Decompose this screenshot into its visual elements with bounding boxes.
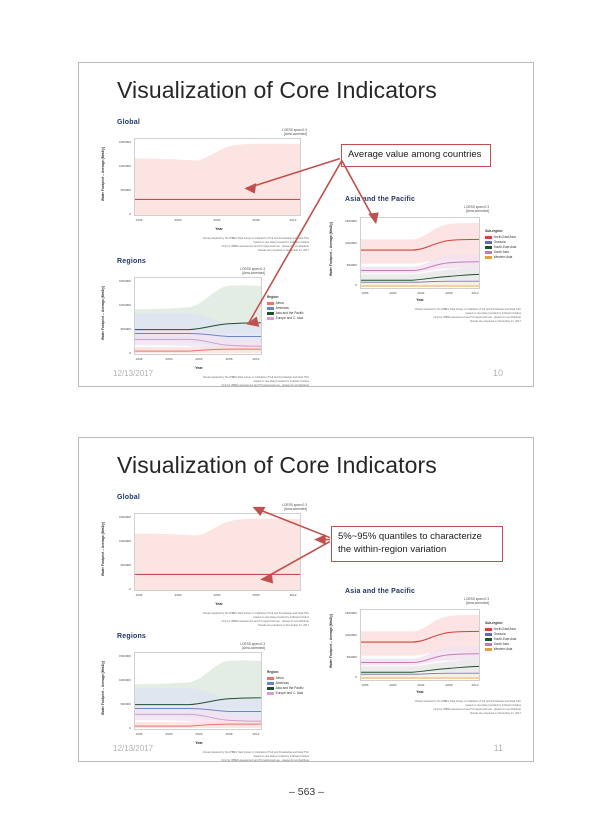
x-tick: 2012 [253,732,260,736]
legend-item[interactable]: Europe and C. Asia [267,316,304,321]
legend-swatch-asia-pacific [267,687,274,690]
x-tick: 1996 [362,683,369,687]
legend-title: Region: [267,670,304,675]
y-tick: 500000 [107,188,131,192]
legend-swatch-europe-c-asia [267,317,274,320]
y-axis-label: Water Footprint – Average (Mm3/y) [101,522,105,576]
x-tick: 2004 [214,593,221,597]
chart-regions: LOESS span=0.3 [Area-corrected] Water Fo… [99,267,309,363]
y-tick: 1500000 [107,515,131,519]
panel-global: Global LOESS span=0.3 [Area-corrected] W… [99,119,309,224]
x-axis-label: Year [416,298,424,302]
plot-area-regions [134,277,262,355]
y-tick: 1000000 [107,678,131,682]
legend-label: Western Asia [494,647,513,652]
x-axis-label: Year [195,366,203,370]
x-tick: 2000 [390,291,397,295]
x-tick: 2004 [418,291,425,295]
panel-title-asia: Asia and the Pacific [345,588,527,595]
plot-area-asia [360,217,480,289]
x-tick: 1996 [136,357,143,361]
y-tick: 1000000 [107,303,131,307]
x-tick: 2000 [175,218,182,222]
legend-swatch-oceania [485,241,492,244]
x-tick: 1996 [136,218,143,222]
y-tick: 1500000 [107,279,131,283]
panel-asia: Asia and the Pacific LOESS span=0.3 [Are… [327,588,527,687]
slide-date: 12/13/2017 [113,744,153,753]
y-tick: 1500000 [107,140,131,144]
y-tick: 500000 [335,263,357,267]
x-tick: 1996 [136,732,143,736]
y-axis-label: Water Footprint – Average (Mm3/y) [329,222,333,276]
y-tick: 0 [107,587,131,591]
y-tick: 1000000 [107,539,131,543]
x-tick: 1996 [136,593,143,597]
legend-swatch-europe-c-asia [267,692,274,695]
loess-note: LOESS span=0.3 [Area-corrected] [464,205,489,214]
slide-11: Visualization of Core Indicators Global … [78,437,534,762]
x-tick: 2012 [290,593,297,597]
x-axis-label: Year [195,741,203,745]
legend-swatch-north-east-asia [485,628,492,631]
legend-title: Sub-region: [485,229,516,234]
chart-asia: LOESS span=0.3 [Area-corrected] Water Fo… [327,205,527,295]
x-tick: 2008 [446,291,453,295]
x-tick: 2000 [166,357,173,361]
legend-title: Region: [267,295,304,300]
y-tick: 500000 [107,702,131,706]
y-tick: 0 [335,675,357,679]
y-axis-label: Water Footprint – Average (Mm3/y) [101,147,105,201]
legend-swatch-western-asia [485,648,492,651]
slide-title: Visualization of Core Indicators [117,77,437,104]
x-tick: 2004 [196,732,203,736]
slide-10: Visualization of Core Indicators Global … [78,62,534,387]
x-axis-label: Year [215,602,223,606]
chart-footnote: Visual prepared by the IPBES Task Group … [159,237,309,253]
chart-global: LOESS span=0.3 [Area-corrected] Water Fo… [99,503,309,599]
callout-quantiles: 5%~95% quantiles to characterize the wit… [331,526,503,562]
y-tick: 0 [107,212,131,216]
y-tick: 1500000 [335,219,357,223]
legend-item[interactable]: Western Asia [485,647,516,652]
document-page: Visualization of Core Indicators Global … [0,0,613,840]
legend-swatch-south-east-asia [485,638,492,641]
plot-area-global [134,513,301,591]
panel-regions: Regions LOESS span=0.3 [Area-corrected] … [99,633,309,738]
legend-asia: Sub-region: North-East Asia Oceania Sout… [485,229,516,260]
y-tick: 1000000 [107,164,131,168]
callout-average-value: Average value among countries [341,144,491,167]
slide-title: Visualization of Core Indicators [117,452,437,479]
x-tick: 2008 [446,683,453,687]
legend-item[interactable]: Europe and C. Asia [267,691,304,696]
x-tick: 2000 [166,732,173,736]
panel-title-regions: Regions [117,258,309,265]
legend-label: Europe and C. Asia [276,316,303,321]
y-tick: 1000000 [335,633,357,637]
x-tick: 2012 [290,218,297,222]
x-tick: 2004 [196,357,203,361]
y-tick: 1000000 [335,241,357,245]
loess-note: LOESS span=0.3 [Area-corrected] [282,503,307,512]
loess-note: LOESS span=0.3 [Area-corrected] [464,597,489,606]
legend-asia: Sub-region: North-East Asia Oceania Sout… [485,621,516,652]
y-tick: 1500000 [335,611,357,615]
legend-swatch-oceania [485,633,492,636]
chart-global: LOESS span=0.3 [Area-corrected] Water Fo… [99,128,309,224]
plot-area-regions [134,652,262,730]
panel-title-global: Global [117,119,309,126]
x-tick: 2008 [226,357,233,361]
page-folio: – 563 – [0,786,613,798]
x-tick: 2008 [253,218,260,222]
panel-title-asia: Asia and the Pacific [345,196,527,203]
legend-swatch-north-east-asia [485,236,492,239]
chart-regions: LOESS span=0.3 [Area-corrected] Water Fo… [99,642,309,738]
legend-swatch-americas [267,682,274,685]
x-tick: 2004 [418,683,425,687]
plot-area-asia [360,609,480,681]
chart-footnote: Visual prepared by the IPBES Task Group … [159,376,309,387]
x-tick: 2008 [226,732,233,736]
y-tick: 500000 [107,563,131,567]
y-tick: 0 [335,283,357,287]
panel-asia: Asia and the Pacific LOESS span=0.3 [Are… [327,196,527,295]
plot-area-global [134,138,301,216]
legend-swatch-americas [267,307,274,310]
legend-label: Western Asia [494,255,513,260]
x-tick: 2012 [472,683,479,687]
legend-regions: Region: Africa Americas Asia and the Pac… [267,295,304,321]
chart-asia: LOESS span=0.3 [Area-corrected] Water Fo… [327,597,527,687]
legend-swatch-africa [267,677,274,680]
x-tick: 2004 [214,218,221,222]
slide-date: 12/13/2017 [113,369,153,378]
legend-label: Europe and C. Asia [276,691,303,696]
y-axis-label: Water Footprint – Average (Mm3/y) [329,614,333,668]
x-tick: 2012 [253,357,260,361]
loess-note: LOESS span=0.3 [Area-corrected] [240,267,265,276]
y-tick: 500000 [107,327,131,331]
loess-note: LOESS span=0.3 [Area-corrected] [240,642,265,651]
x-tick: 2000 [175,593,182,597]
y-axis-label: Water Footprint – Average (Mm3/y) [101,286,105,340]
legend-swatch-africa [267,302,274,305]
x-tick: 1996 [362,291,369,295]
y-tick: 0 [107,726,131,730]
panel-global: Global LOESS span=0.3 [Area-corrected] W… [99,494,309,599]
x-tick: 2000 [390,683,397,687]
legend-title: Sub-region: [485,621,516,626]
legend-swatch-western-asia [485,256,492,259]
y-tick: 500000 [335,655,357,659]
legend-item[interactable]: Western Asia [485,255,516,260]
legend-regions: Region: Africa Americas Asia and the Pac… [267,670,304,696]
y-tick: 0 [107,351,131,355]
legend-swatch-south-east-asia [485,246,492,249]
slide-number: 10 [493,368,503,378]
x-axis-label: Year [215,227,223,231]
x-tick: 2012 [472,291,479,295]
x-tick: 2008 [253,593,260,597]
chart-footnote: Visual prepared by the IPBES Task Group … [371,308,521,324]
chart-footnote: Visual prepared by the IPBES Task Group … [159,751,309,762]
loess-note: LOESS span=0.3 [Area-corrected] [282,128,307,137]
legend-swatch-south-asia [485,643,492,646]
slide-number: 11 [494,743,503,753]
y-axis-label: Water Footprint – Average (Mm3/y) [101,661,105,715]
legend-swatch-south-asia [485,251,492,254]
panel-title-regions: Regions [117,633,309,640]
panel-regions: Regions LOESS span=0.3 [Area-corrected] … [99,258,309,363]
y-tick: 1500000 [107,654,131,658]
legend-swatch-asia-pacific [267,312,274,315]
x-axis-label: Year [416,690,424,694]
chart-footnote: Visual prepared by the IPBES Task Group … [371,700,521,716]
panel-title-global: Global [117,494,309,501]
chart-footnote: Visual prepared by the IPBES Task Group … [159,612,309,628]
